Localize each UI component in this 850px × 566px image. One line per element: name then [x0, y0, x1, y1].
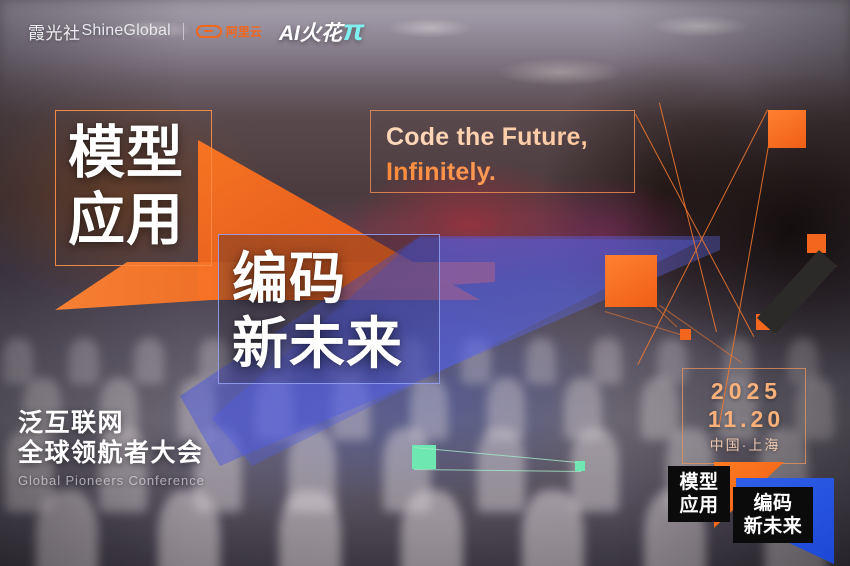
event-location: 中国·上海 — [708, 435, 781, 455]
badge-b-line-1: 编码 — [753, 492, 792, 515]
conference-line-1: 泛互联网 — [18, 408, 205, 438]
headline-b-line-1: 编码 — [232, 246, 442, 311]
product-logo: AI火花 π — [279, 16, 364, 47]
pi-symbol-icon: π — [343, 16, 364, 46]
brand-name-cn: 霞光社 — [28, 19, 81, 44]
tagline-line-1: Code the Future, — [386, 120, 636, 155]
event-date-block: 2025 11.20 中国·上海 — [682, 368, 806, 464]
green-connector-bottom — [414, 469, 581, 472]
conference-line-2: 全球领航者大会 — [18, 438, 205, 468]
product-name: AI火花 — [279, 17, 342, 47]
headline-a-line-2: 应用 — [68, 187, 218, 254]
badge-b-line-2: 新未来 — [744, 515, 803, 538]
headline-b-line-2: 新未来 — [232, 311, 442, 376]
headline-a-line-1: 模型 — [68, 120, 218, 187]
headline-code-new-future: 编码 新未来 — [232, 246, 442, 376]
connector-line-4 — [659, 103, 717, 332]
headline-model-application: 模型 应用 — [68, 120, 218, 254]
event-date: 11.20 — [704, 405, 784, 433]
badge-a-line-1: 模型 — [679, 471, 718, 494]
orange-square-top — [768, 110, 806, 148]
badge-model-application: 模型 应用 — [668, 466, 730, 522]
partner-logo-alibaba-cloud: 阿里云 — [196, 23, 262, 40]
conference-poster: 霞光社 ShineGlobal 阿里云 AI火花 π 模型 应用 编码 新未来 … — [0, 0, 850, 566]
orange-square-small-b — [807, 234, 826, 253]
logo-divider — [183, 23, 184, 40]
conference-name-block: 泛互联网 全球领航者大会 Global Pioneers Conference — [18, 408, 205, 488]
alibaba-cloud-icon — [196, 25, 222, 38]
brand-name-en: ShineGlobal — [82, 22, 171, 40]
orange-square-small-a — [680, 329, 691, 340]
connector-line-5 — [659, 305, 741, 363]
conference-subtitle-en: Global Pioneers Conference — [18, 473, 205, 488]
top-logo-bar: 霞光社 ShineGlobal 阿里云 AI火花 π — [0, 0, 850, 62]
tagline-line-2: Infinitely. — [386, 155, 636, 190]
partner-name: 阿里云 — [226, 23, 262, 40]
green-connector-top — [414, 447, 578, 463]
badge-a-line-2: 应用 — [679, 494, 718, 517]
event-year: 2025 — [706, 378, 782, 405]
dark-parallelogram — [757, 250, 837, 334]
badge-code-new-future: 编码 新未来 — [733, 487, 813, 543]
tagline: Code the Future, Infinitely. — [386, 120, 636, 190]
orange-square-mid — [605, 255, 657, 307]
